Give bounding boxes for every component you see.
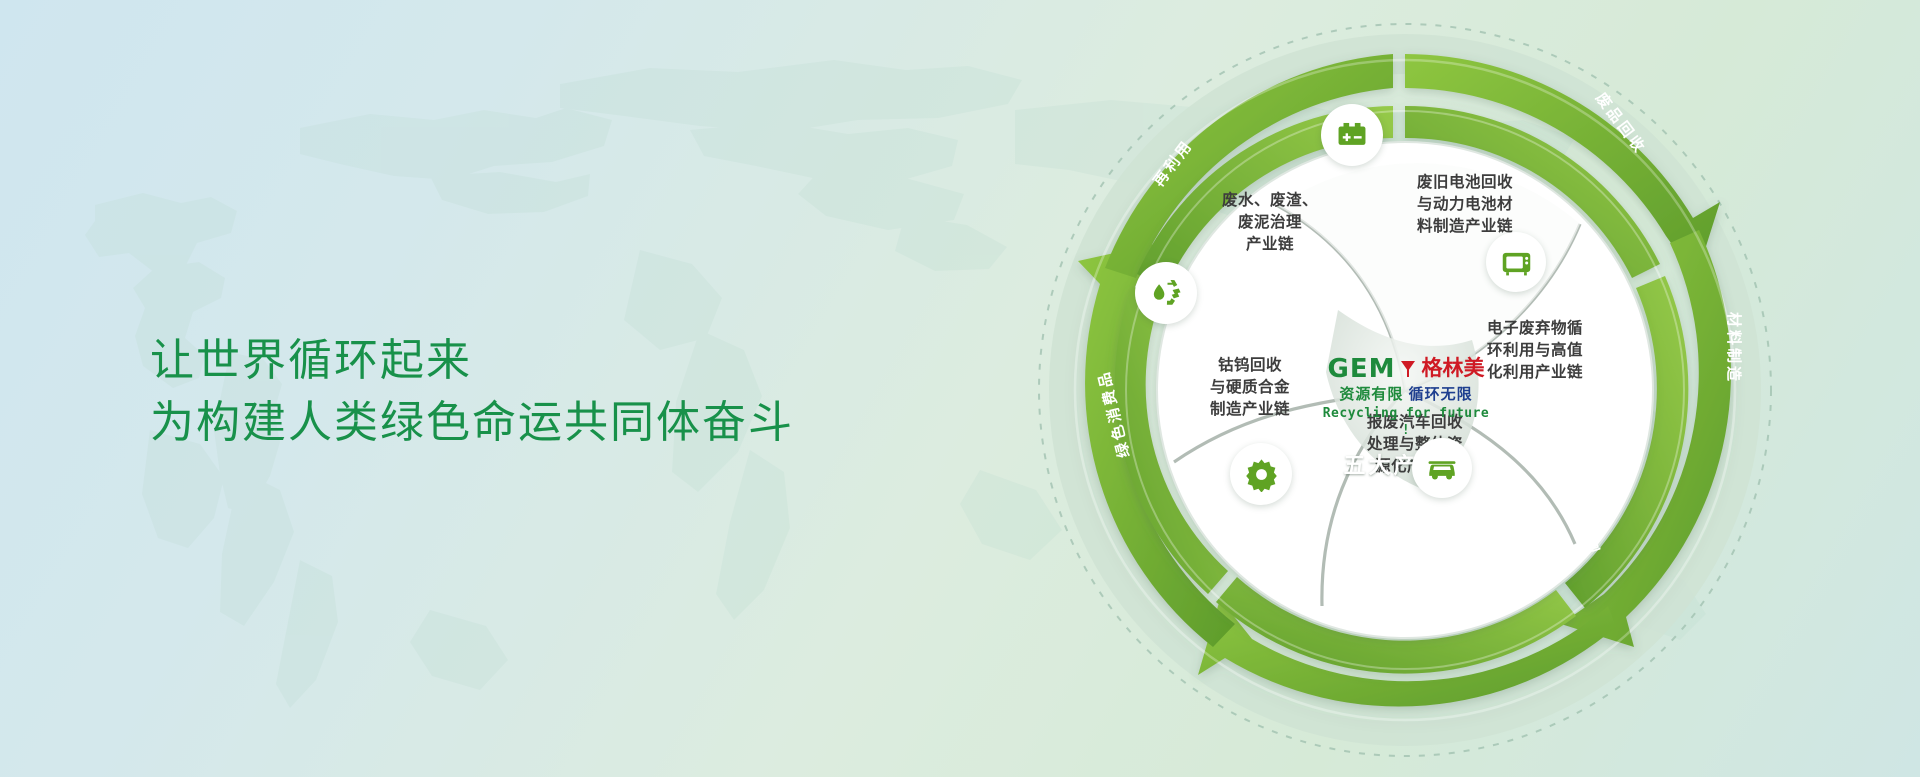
television-icon-bubble[interactable] [1486, 232, 1546, 292]
battery-icon [1335, 118, 1369, 152]
gem-slogan-part2: 循环无限 [1409, 386, 1473, 403]
headline-line-1: 让世界循环起来 [150, 330, 794, 392]
segment-label-water: 废水、废渣、 废泥治理 产业链 [1190, 190, 1350, 256]
headline-line-2: 为构建人类绿色命运共同体奋斗 [150, 392, 794, 454]
gem-brand-cn: 格林美 [1421, 356, 1484, 382]
segment-label-cobalt: 钴钨回收 与硬质合金 制造产业链 [1170, 355, 1330, 421]
segment-label-battery: 废旧电池回收 与动力电池材 料制造产业链 [1380, 172, 1550, 238]
gem-brand-latin: GEM [1328, 356, 1396, 382]
headline: 让世界循环起来 为构建人类绿色命运共同体奋斗 [150, 330, 794, 454]
gear-icon [1244, 457, 1279, 492]
gear-icon-bubble[interactable] [1230, 443, 1292, 505]
car-icon-bubble[interactable] [1412, 438, 1472, 498]
water-recycle-icon [1148, 275, 1184, 311]
water-recycle-icon-bubble[interactable] [1135, 262, 1197, 324]
ring-label-material-make: 材料制造 [1724, 312, 1745, 384]
television-icon [1500, 246, 1533, 279]
gem-slogan-en: Recycling for future ! [1316, 405, 1496, 439]
gem-slogan-part1: 资源有限 [1339, 386, 1403, 403]
gem-flag-icon [1400, 360, 1416, 378]
battery-icon-bubble[interactable] [1321, 104, 1383, 166]
gem-slogan-cn: 资源有限 循环无限 [1316, 385, 1496, 404]
car-icon [1425, 451, 1459, 485]
